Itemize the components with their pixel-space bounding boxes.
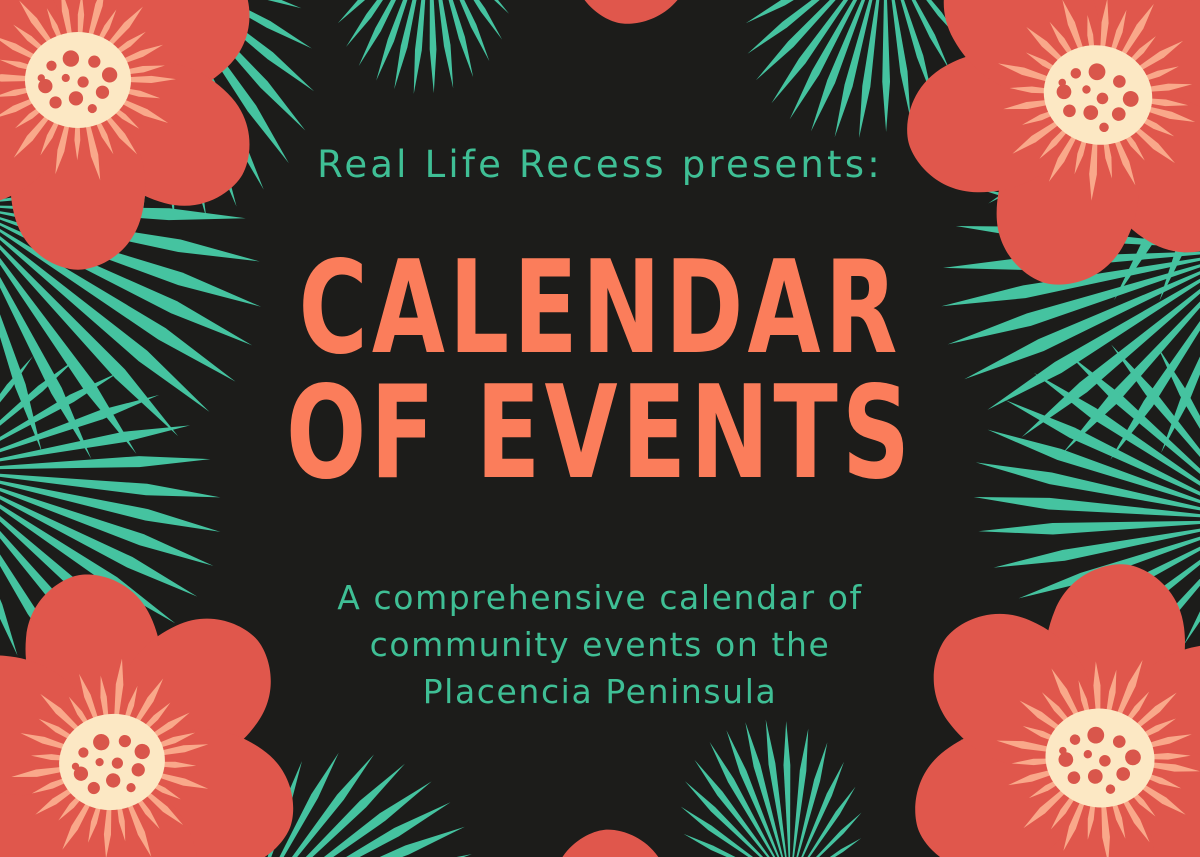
poster-canvas: Real Life Recess presents: CALENDAR OF E… [0,0,1200,857]
tropical-decoration-artwork [0,0,1200,857]
